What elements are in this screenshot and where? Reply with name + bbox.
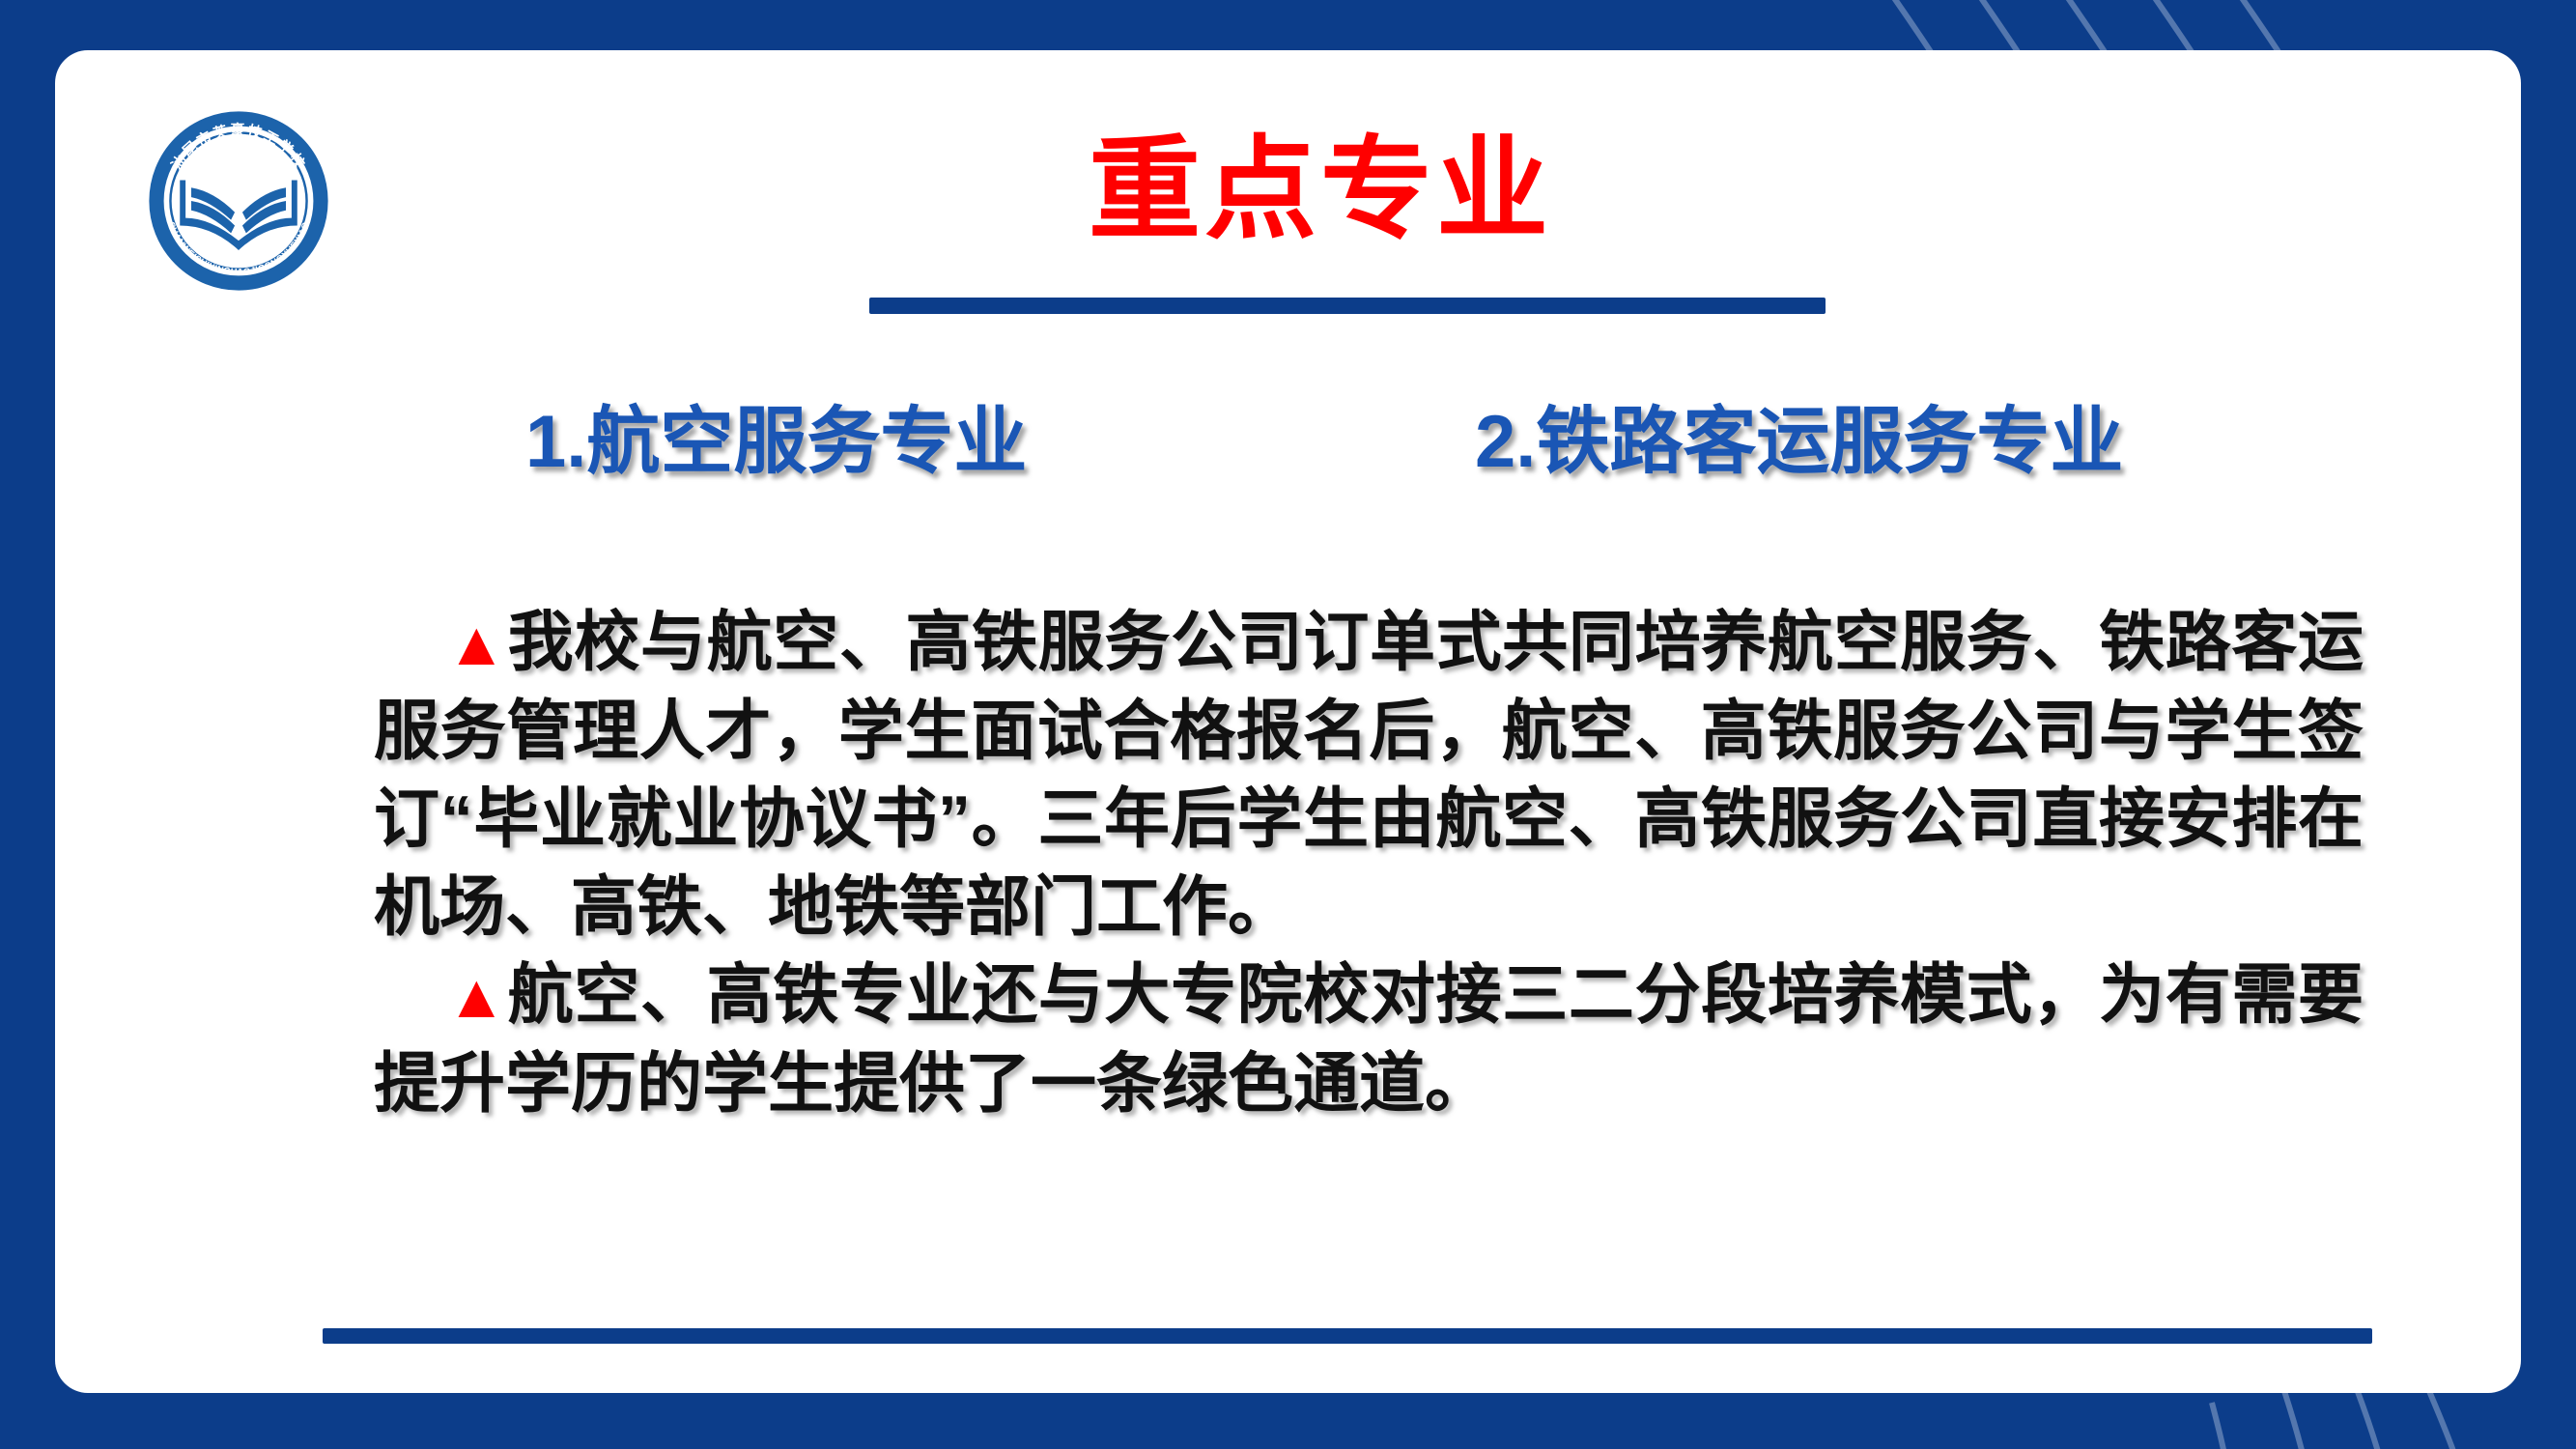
triangle-bullet-icon: ▲ (445, 609, 508, 678)
content-card: 汕尾市英豪技工学校 SHANWEISHIYINGHAOJIGONGXUEXIAO… (55, 50, 2521, 1393)
school-emblem-icon: 汕尾市英豪技工学校 SHANWEISHIYINGHAOJIGONGXUEXIAO (144, 106, 333, 296)
specialty-heading-1: 1.航空服务专业 (525, 406, 1027, 479)
paragraph-2: ▲航空、高铁专业还与大专院校对接三二分段培养模式，为有需要提升学历的学生提供了一… (374, 952, 2364, 1128)
school-logo: 汕尾市英豪技工学校 SHANWEISHIYINGHAOJIGONGXUEXIAO (144, 106, 333, 296)
page-title: 重点专业 (1089, 133, 1552, 245)
paragraph-1-text: 我校与航空、高铁服务公司订单式共同培养航空服务、铁路客运服务管理人才，学生面试合… (374, 606, 2364, 944)
paragraph-2-text: 航空、高铁专业还与大专院校对接三二分段培养模式，为有需要提升学历的学生提供了一条… (374, 958, 2364, 1121)
paragraph-1: ▲我校与航空、高铁服务公司订单式共同培养航空服务、铁路客运服务管理人才，学生面试… (374, 599, 2364, 952)
slide: 汕尾市英豪技工学校 SHANWEISHIYINGHAOJIGONGXUEXIAO… (0, 0, 2576, 1449)
body-copy: ▲我校与航空、高铁服务公司订单式共同培养航空服务、铁路客运服务管理人才，学生面试… (374, 599, 2364, 1128)
footer-rule (323, 1328, 2372, 1344)
title-underline (869, 298, 1826, 314)
specialty-heading-2: 2.铁路客运服务专业 (1475, 406, 2123, 479)
triangle-bullet-icon: ▲ (445, 961, 508, 1031)
specialty-headings: 1.航空服务专业 2.铁路客运服务专业 (55, 406, 2521, 493)
